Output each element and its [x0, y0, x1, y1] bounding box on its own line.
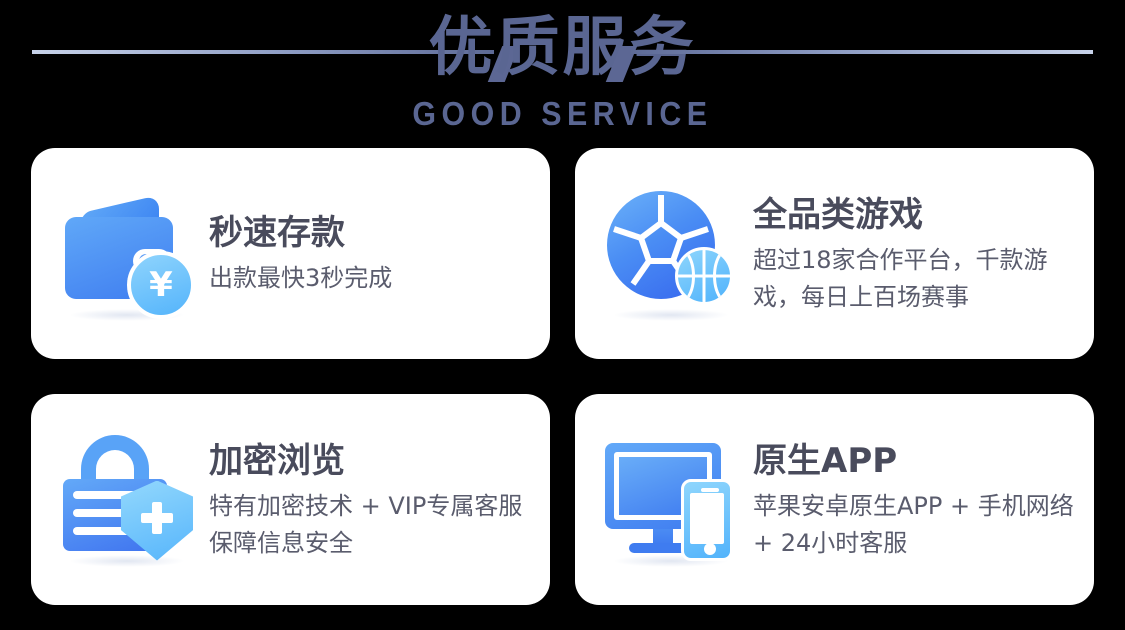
- card-icon-slot: [55, 425, 205, 575]
- monitor-phone-icon: [599, 425, 749, 575]
- card-icon-slot: [599, 425, 749, 575]
- card-title: 原生APP: [753, 438, 1074, 484]
- feature-card-deposit[interactable]: ¥ 秒速存款 出款最快3秒完成: [31, 148, 550, 359]
- wallet-icon: ¥: [55, 179, 205, 329]
- soccer-basketball-icon: [599, 179, 749, 329]
- icon-shadow: [613, 309, 729, 321]
- card-description: 苹果安卓原生APP + 手机网络 + 24小时客服: [753, 488, 1074, 562]
- feature-card-grid: ¥ 秒速存款 出款最快3秒完成: [31, 148, 1094, 605]
- card-title: 全品类游戏: [753, 192, 1074, 238]
- icon-shadow: [69, 555, 185, 567]
- phone-home-button-icon: [704, 543, 716, 555]
- page-header: 优质服务 GOOD SERVICE: [0, 0, 1125, 142]
- card-text-block: 全品类游戏 超过18家合作平台，千款游戏，每日上百场赛事: [749, 192, 1074, 316]
- phone-screen-icon: [690, 493, 724, 544]
- feature-card-games[interactable]: 全品类游戏 超过18家合作平台，千款游戏，每日上百场赛事: [575, 148, 1094, 359]
- header-decor-line-right: [631, 50, 1093, 54]
- card-title: 秒速存款: [209, 210, 530, 256]
- plus-icon: [141, 502, 173, 534]
- card-icon-slot: [599, 179, 749, 329]
- card-text-block: 加密浏览 特有加密技术 + VIP专属客服保障信息安全: [205, 438, 530, 562]
- card-text-block: 原生APP 苹果安卓原生APP + 手机网络 + 24小时客服: [749, 438, 1074, 562]
- card-description: 出款最快3秒完成: [209, 260, 530, 297]
- feature-card-native-app[interactable]: 原生APP 苹果安卓原生APP + 手机网络 + 24小时客服: [575, 394, 1094, 605]
- card-description: 超过18家合作平台，千款游戏，每日上百场赛事: [753, 242, 1074, 316]
- page-title: 优质服务: [0, 6, 1125, 90]
- lock-line-icon: [73, 509, 125, 517]
- yen-coin-icon: ¥: [127, 251, 195, 319]
- feature-card-encryption[interactable]: 加密浏览 特有加密技术 + VIP专属客服保障信息安全: [31, 394, 550, 605]
- phone-speaker-icon: [701, 488, 719, 492]
- card-text-block: 秒速存款 出款最快3秒完成: [205, 210, 530, 297]
- lock-shield-icon: [55, 425, 205, 575]
- basketball-icon: [675, 247, 733, 305]
- phone-icon: [681, 479, 733, 561]
- card-title: 加密浏览: [209, 438, 530, 484]
- card-description: 特有加密技术 + VIP专属客服保障信息安全: [209, 488, 530, 562]
- card-icon-slot: ¥: [55, 179, 205, 329]
- page-subtitle: GOOD SERVICE: [45, 96, 1080, 132]
